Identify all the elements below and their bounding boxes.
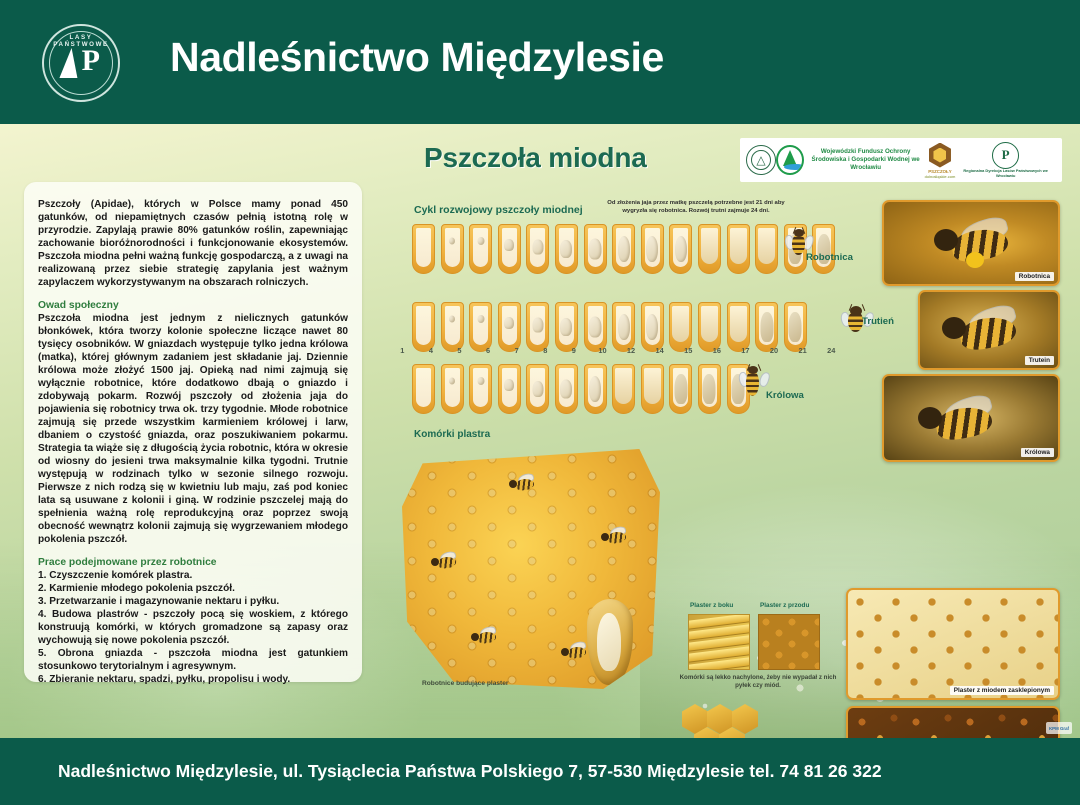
page-title: Nadleśnictwo Międzylesie — [170, 34, 664, 81]
brood-cell — [498, 364, 521, 414]
logo-letter-p: P — [82, 46, 100, 76]
comb-side-diagram — [688, 614, 750, 670]
photo-caption: Królowa — [1021, 448, 1054, 457]
day-number: 12 — [617, 346, 646, 355]
photo-robotnica: Robotnica — [882, 200, 1060, 286]
comb-bee-icon — [470, 629, 500, 647]
cycle-row-3 — [412, 364, 755, 414]
rdlp-badge-icon: P — [992, 142, 1019, 169]
day-number: 1 — [388, 346, 417, 355]
day-number: 4 — [417, 346, 446, 355]
page-footer: Nadleśnictwo Międzylesie, ul. Tysiącleci… — [0, 738, 1080, 805]
info-text-panel: Pszczoły (Apidae), których w Polsce mamy… — [24, 182, 362, 682]
photo-caption: Plaster z miodem zasklepionym — [950, 686, 1054, 695]
sponsor-pszczoly: PSZCZOŁY dolnośląskie.com — [925, 142, 956, 179]
brood-cell — [812, 224, 835, 274]
cycle-note: Od złożenia jaja przez matkę pszczelą po… — [606, 200, 786, 215]
list-item: 5. Obrona gniazda - pszczoła miodna jest… — [38, 647, 348, 673]
brood-cell — [412, 224, 435, 274]
pszczoly-sublabel: dolnośląskie.com — [925, 174, 956, 179]
cycle-row-2 — [412, 302, 812, 352]
sponsor-logo-bar: △ Wojewódzki Fundusz Ochrony Środowiska … — [740, 138, 1062, 182]
sponsor-rdlp: P Regionalna Dyrekcja Lasów Państwowych … — [955, 142, 1056, 178]
day-number: 5 — [445, 346, 474, 355]
wfos-tree-icon — [776, 145, 804, 175]
brood-cell — [669, 364, 692, 414]
lasy-panstwowe-logo: LASY PAŃSTWOWE P — [42, 24, 120, 102]
brood-cell — [441, 364, 464, 414]
brood-cell — [784, 302, 807, 352]
brood-cell — [755, 224, 778, 274]
bee-photo-graphic — [914, 396, 1010, 450]
brood-cell — [698, 302, 721, 352]
caste-label-drone: Trutień — [862, 316, 894, 327]
intro-paragraph: Pszczoły (Apidae), których w Polsce mamy… — [38, 198, 348, 289]
comb-front-diagram — [758, 614, 820, 670]
brood-cell — [612, 224, 635, 274]
brood-cell — [698, 364, 721, 414]
brood-cell — [669, 224, 692, 274]
brood-cell — [469, 302, 492, 352]
brood-cell — [555, 364, 578, 414]
sponsor-wfos: Wojewódzki Fundusz Ochrony Środowiska i … — [776, 145, 925, 175]
wfos-label: Wojewódzki Fundusz Ochrony Środowiska i … — [807, 148, 925, 172]
day-number: 8 — [531, 346, 560, 355]
photo-truten: Trutein — [918, 290, 1060, 370]
day-number: 7 — [502, 346, 531, 355]
caste-label-worker: Robotnica — [806, 252, 853, 263]
day-number: 21 — [788, 346, 817, 355]
list-item: 1. Czyszczenie komórek plastra. — [38, 569, 348, 582]
brood-cell — [412, 364, 435, 414]
brood-cell — [727, 302, 750, 352]
comb-caption: Robotnice budujące plaster — [422, 680, 508, 687]
hex-beekeeper-icon — [928, 142, 952, 169]
cycle-row-1 — [412, 224, 841, 274]
label-plaster-side: Plaster z boku — [690, 602, 733, 609]
comb-storage-diagram — [682, 704, 760, 738]
list-item: 3. Przetwarzanie i magazynowanie nektaru… — [38, 595, 348, 608]
day-number: 15 — [674, 346, 703, 355]
bee-photo-graphic — [938, 306, 1034, 360]
brood-cell — [441, 302, 464, 352]
mountain-icon: △ — [751, 150, 771, 170]
brood-cell — [498, 302, 521, 352]
brood-cell — [698, 224, 721, 274]
tree-shape-icon — [59, 48, 80, 78]
comb-bee-icon — [508, 476, 538, 494]
brood-cell — [498, 224, 521, 274]
photo-caption: Trutein — [1025, 356, 1054, 365]
brood-cell — [584, 364, 607, 414]
photo-pierzga: Pierzga — [846, 706, 1060, 738]
brood-cell — [641, 224, 664, 274]
brood-cell — [526, 224, 549, 274]
day-number: 16 — [703, 346, 732, 355]
brood-cell — [555, 224, 578, 274]
poster-body: Pszczoły (Apidae), których w Polsce mamy… — [0, 124, 1080, 738]
day-number: 14 — [645, 346, 674, 355]
rdlp-label: Regionalna Dyrekcja Lasów Państwowych we… — [955, 169, 1056, 178]
bee-photo-graphic — [930, 218, 1026, 272]
label-plaster-front: Plaster z przodu — [760, 602, 809, 609]
worker-tasks-list: 1. Czyszczenie komórek plastra. 2. Karmi… — [38, 569, 348, 686]
brood-cell — [641, 364, 664, 414]
sponsor-park-logo: △ — [746, 145, 776, 175]
comb-bee-icon — [430, 554, 460, 572]
section-body-social-insect: Pszczoła miodna jest jednym z nielicznyc… — [38, 312, 348, 546]
cycle-section-title: Cykl rozwojowy pszczoły miodnej — [414, 204, 583, 216]
cycle-day-numbers: 1 4 5 6 7 8 9 10 12 14 15 16 17 20 21 24 — [388, 346, 846, 355]
brood-cell — [441, 224, 464, 274]
water-wave-icon — [784, 164, 804, 170]
queen-bee-icon — [740, 364, 768, 398]
brood-cell — [526, 364, 549, 414]
page-header: LASY PAŃSTWOWE P Nadleśnictwo Międzylesi… — [0, 0, 1080, 124]
brood-cell — [412, 302, 435, 352]
tree-emblem-icon: P — [59, 46, 103, 80]
comb-section-title: Komórki plastra — [414, 429, 490, 440]
park-badge-icon: △ — [746, 145, 776, 175]
list-item: 6. Zbieranie nektaru, spadzi, pyłku, pro… — [38, 673, 348, 686]
brood-cell — [612, 364, 635, 414]
brood-cell — [727, 224, 750, 274]
photo-krolowa: Królowa — [882, 374, 1060, 462]
brood-cell — [584, 224, 607, 274]
brood-cell — [469, 364, 492, 414]
photo-honey-comb: Plaster z miodem zasklepionym — [846, 588, 1060, 700]
brood-cell — [555, 302, 578, 352]
day-number: 10 — [588, 346, 617, 355]
day-number: 6 — [474, 346, 503, 355]
brood-cell — [755, 302, 778, 352]
day-number: 17 — [731, 346, 760, 355]
brood-cell — [641, 302, 664, 352]
watermark: KPM Graf — [1046, 722, 1072, 734]
section-heading-worker-tasks: Prace podejmowane przez robotnice — [38, 557, 348, 568]
caste-label-queen: Królowa — [766, 390, 804, 401]
day-number: 9 — [560, 346, 589, 355]
brood-cell — [612, 302, 635, 352]
footer-contact-text: Nadleśnictwo Międzylesie, ul. Tysiącleci… — [58, 761, 882, 782]
comb-tilt-caption: Komórki są lekko nachylone, żeby nie wyp… — [678, 674, 838, 689]
brood-cell — [526, 302, 549, 352]
list-item: 4. Budowa plastrów - pszczoły pocą się w… — [38, 608, 348, 647]
brood-cell — [584, 302, 607, 352]
day-number: 20 — [760, 346, 789, 355]
section-heading-social-insect: Owad społeczny — [38, 300, 348, 311]
day-number: 24 — [817, 346, 846, 355]
brood-cell — [669, 302, 692, 352]
comb-bee-icon — [560, 644, 590, 662]
comb-bee-icon — [600, 529, 630, 547]
list-item: 2. Karmienie młodego pokolenia pszczół. — [38, 582, 348, 595]
photo-caption: Robotnica — [1015, 272, 1054, 281]
poster-title: Pszczoła miodna — [424, 142, 647, 174]
brood-cell — [469, 224, 492, 274]
